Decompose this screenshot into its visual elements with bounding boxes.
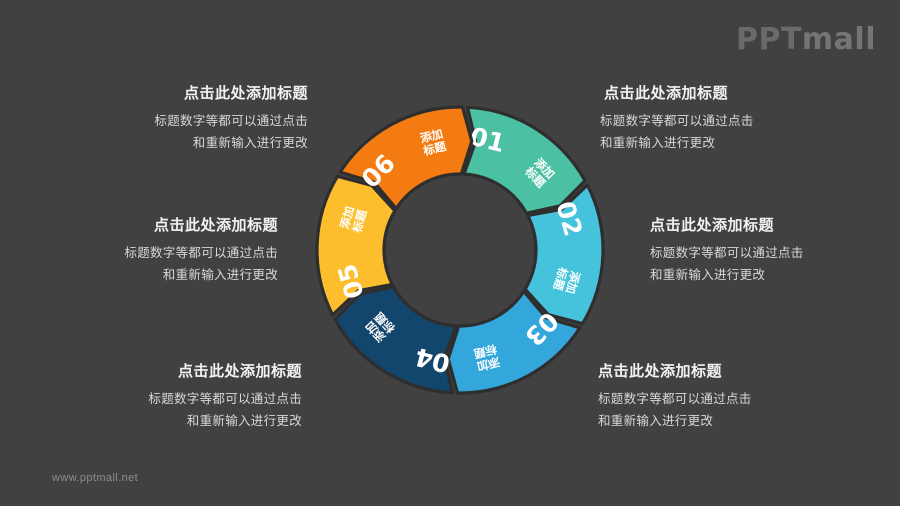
- callout-block-03[interactable]: 点击此处添加标题 标题数字等都可以通过点击 和重新输入进行更改: [598, 362, 848, 433]
- callout-heading: 点击此处添加标题: [650, 216, 900, 236]
- callout-line-2: 和重新输入进行更改: [28, 265, 278, 287]
- pptmall-logo: PPTmall: [736, 22, 876, 57]
- callout-block-01[interactable]: 点击此处添加标题 标题数字等都可以通过点击 和重新输入进行更改: [600, 84, 850, 155]
- callout-line-2: 和重新输入进行更改: [598, 411, 848, 433]
- donut-segment-01[interactable]: 01添加标题: [464, 107, 585, 213]
- footer-url: www.pptmall.net: [52, 472, 138, 484]
- callout-line-2: 和重新输入进行更改: [58, 133, 308, 155]
- donut-segment-04[interactable]: 04添加标题: [335, 287, 456, 393]
- callout-line-1: 标题数字等都可以通过点击: [598, 389, 848, 411]
- callout-line-1: 标题数字等都可以通过点击: [650, 243, 900, 265]
- callout-block-04[interactable]: 点击此处添加标题 标题数字等都可以通过点击 和重新输入进行更改: [52, 362, 302, 433]
- callout-line-1: 标题数字等都可以通过点击: [58, 111, 308, 133]
- callout-heading: 点击此处添加标题: [600, 84, 850, 104]
- callout-heading: 点击此处添加标题: [28, 216, 278, 236]
- donut-svg: 01添加标题02添加标题03添加标题04添加标题05添加标题06添加标题: [315, 105, 605, 395]
- callout-heading: 点击此处添加标题: [598, 362, 848, 382]
- callout-line-2: 和重新输入进行更改: [600, 133, 850, 155]
- callout-block-02[interactable]: 点击此处添加标题 标题数字等都可以通过点击 和重新输入进行更改: [650, 216, 900, 287]
- callout-line-1: 标题数字等都可以通过点击: [52, 389, 302, 411]
- callout-line-1: 标题数字等都可以通过点击: [600, 111, 850, 133]
- callout-heading: 点击此处添加标题: [52, 362, 302, 382]
- logo-main-text: PPT: [736, 22, 802, 57]
- callout-block-06[interactable]: 点击此处添加标题 标题数字等都可以通过点击 和重新输入进行更改: [58, 84, 308, 155]
- logo-accent-text: mall: [802, 22, 876, 57]
- callout-heading: 点击此处添加标题: [58, 84, 308, 104]
- callout-line-1: 标题数字等都可以通过点击: [28, 243, 278, 265]
- slide-canvas: PPTmall 01添加标题02添加标题03添加标题04添加标题05添加标题06…: [0, 0, 900, 506]
- callout-line-2: 和重新输入进行更改: [52, 411, 302, 433]
- callout-block-05[interactable]: 点击此处添加标题 标题数字等都可以通过点击 和重新输入进行更改: [28, 216, 278, 287]
- cycle-donut-diagram: 01添加标题02添加标题03添加标题04添加标题05添加标题06添加标题: [315, 105, 605, 395]
- callout-line-2: 和重新输入进行更改: [650, 265, 900, 287]
